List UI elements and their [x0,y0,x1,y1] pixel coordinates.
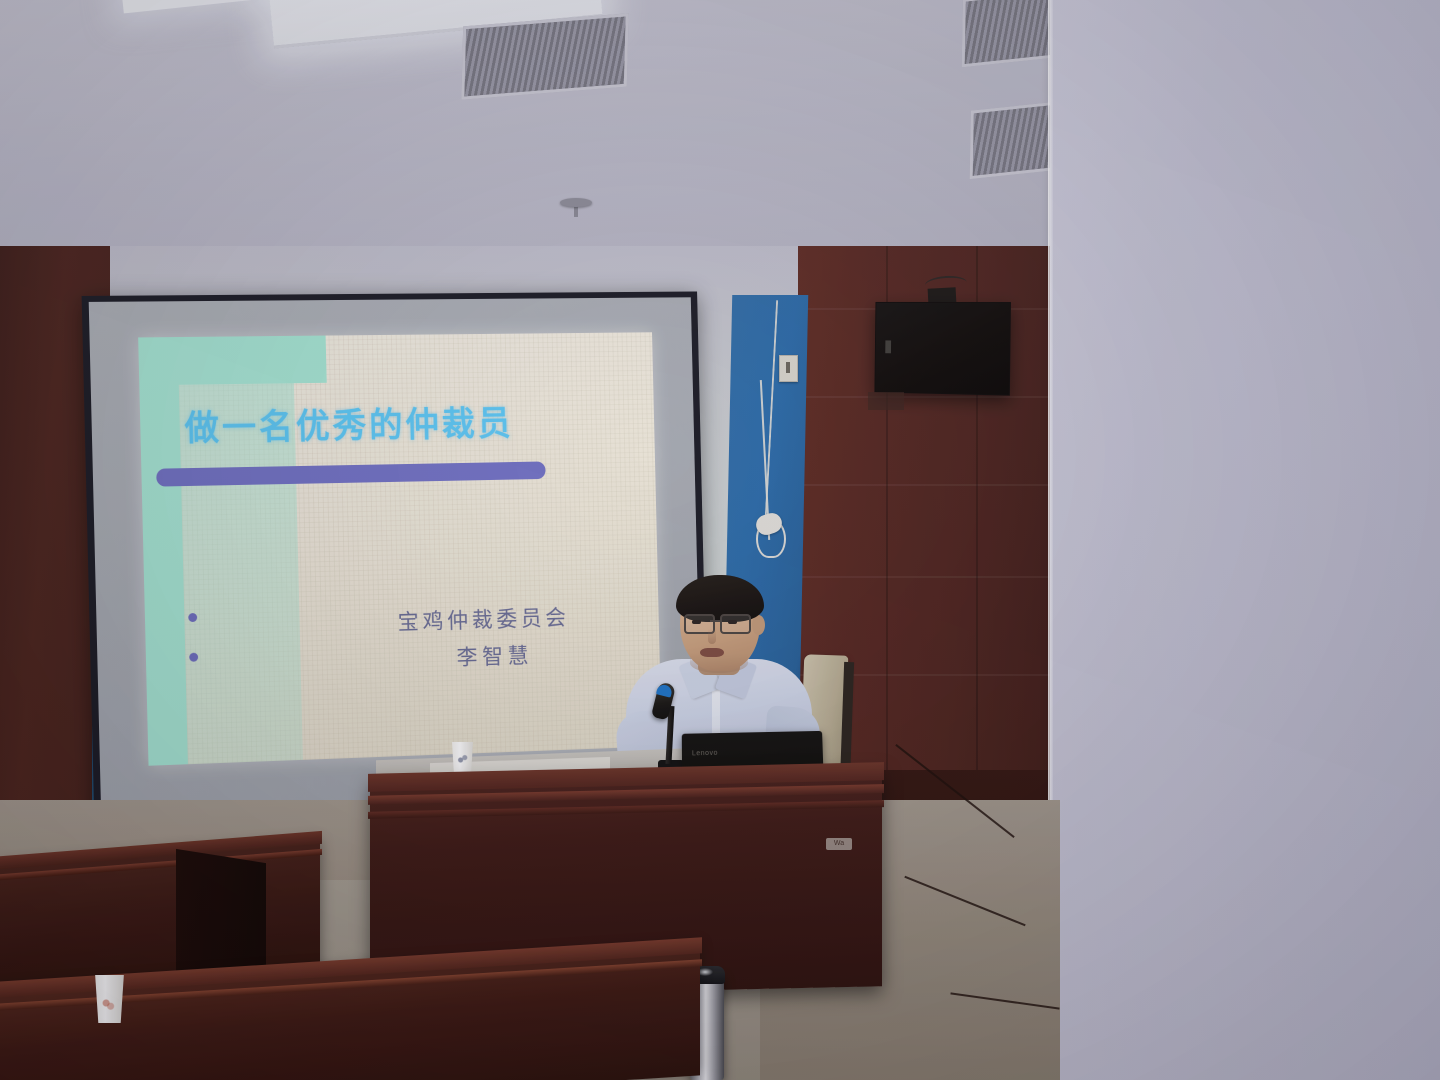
presenter-mouth [700,648,724,657]
screen-frame: 做一名优秀的仲裁员 宝鸡仲裁委员会 李智慧 [82,291,709,823]
conference-room-photo: 做一名优秀的仲裁员 宝鸡仲裁委员会 李智慧 [0,0,1440,1080]
glasses-bridge [710,620,721,622]
slide-presenter-name: 李智慧 [456,638,533,672]
slide-title: 做一名优秀的仲裁员 [184,408,514,448]
laptop-brand-label: Lenovo [692,750,718,757]
presenter-nose [708,629,716,644]
right-wall-column [1050,0,1440,1080]
slide-bullet-2 [189,653,198,662]
ceiling-vent-right-upper [962,0,1061,67]
glasses-lens-right [720,614,751,634]
presentation-slide: 做一名优秀的仲裁员 宝鸡仲裁委员会 李智慧 [138,332,662,765]
wall-mounted-tv [874,302,1011,396]
presenter-eye-right [728,620,737,624]
slide-bullet-list [188,613,199,693]
sprinkler-icon [560,198,592,208]
ceiling-vent-center [461,13,628,99]
paper-cup-on-podium [450,742,475,775]
tv-power-led-icon [885,340,891,353]
presenter-eye-left [692,620,701,624]
tv-wall-plate [868,392,904,410]
slide-organization: 宝鸡仲裁委员会 [397,601,570,637]
projection-screen: 做一名优秀的仲裁员 宝鸡仲裁委员会 李智慧 [82,291,709,823]
presenter-ear [752,615,765,635]
slide-accent-band-top [178,336,327,385]
podium-brand-badge: Wa [826,838,852,850]
screen-surface: 做一名优秀的仲裁员 宝鸡仲裁委员会 李智慧 [89,297,703,814]
slide-bullet-1 [188,613,197,622]
wall-outlet-icon[interactable] [779,355,798,382]
